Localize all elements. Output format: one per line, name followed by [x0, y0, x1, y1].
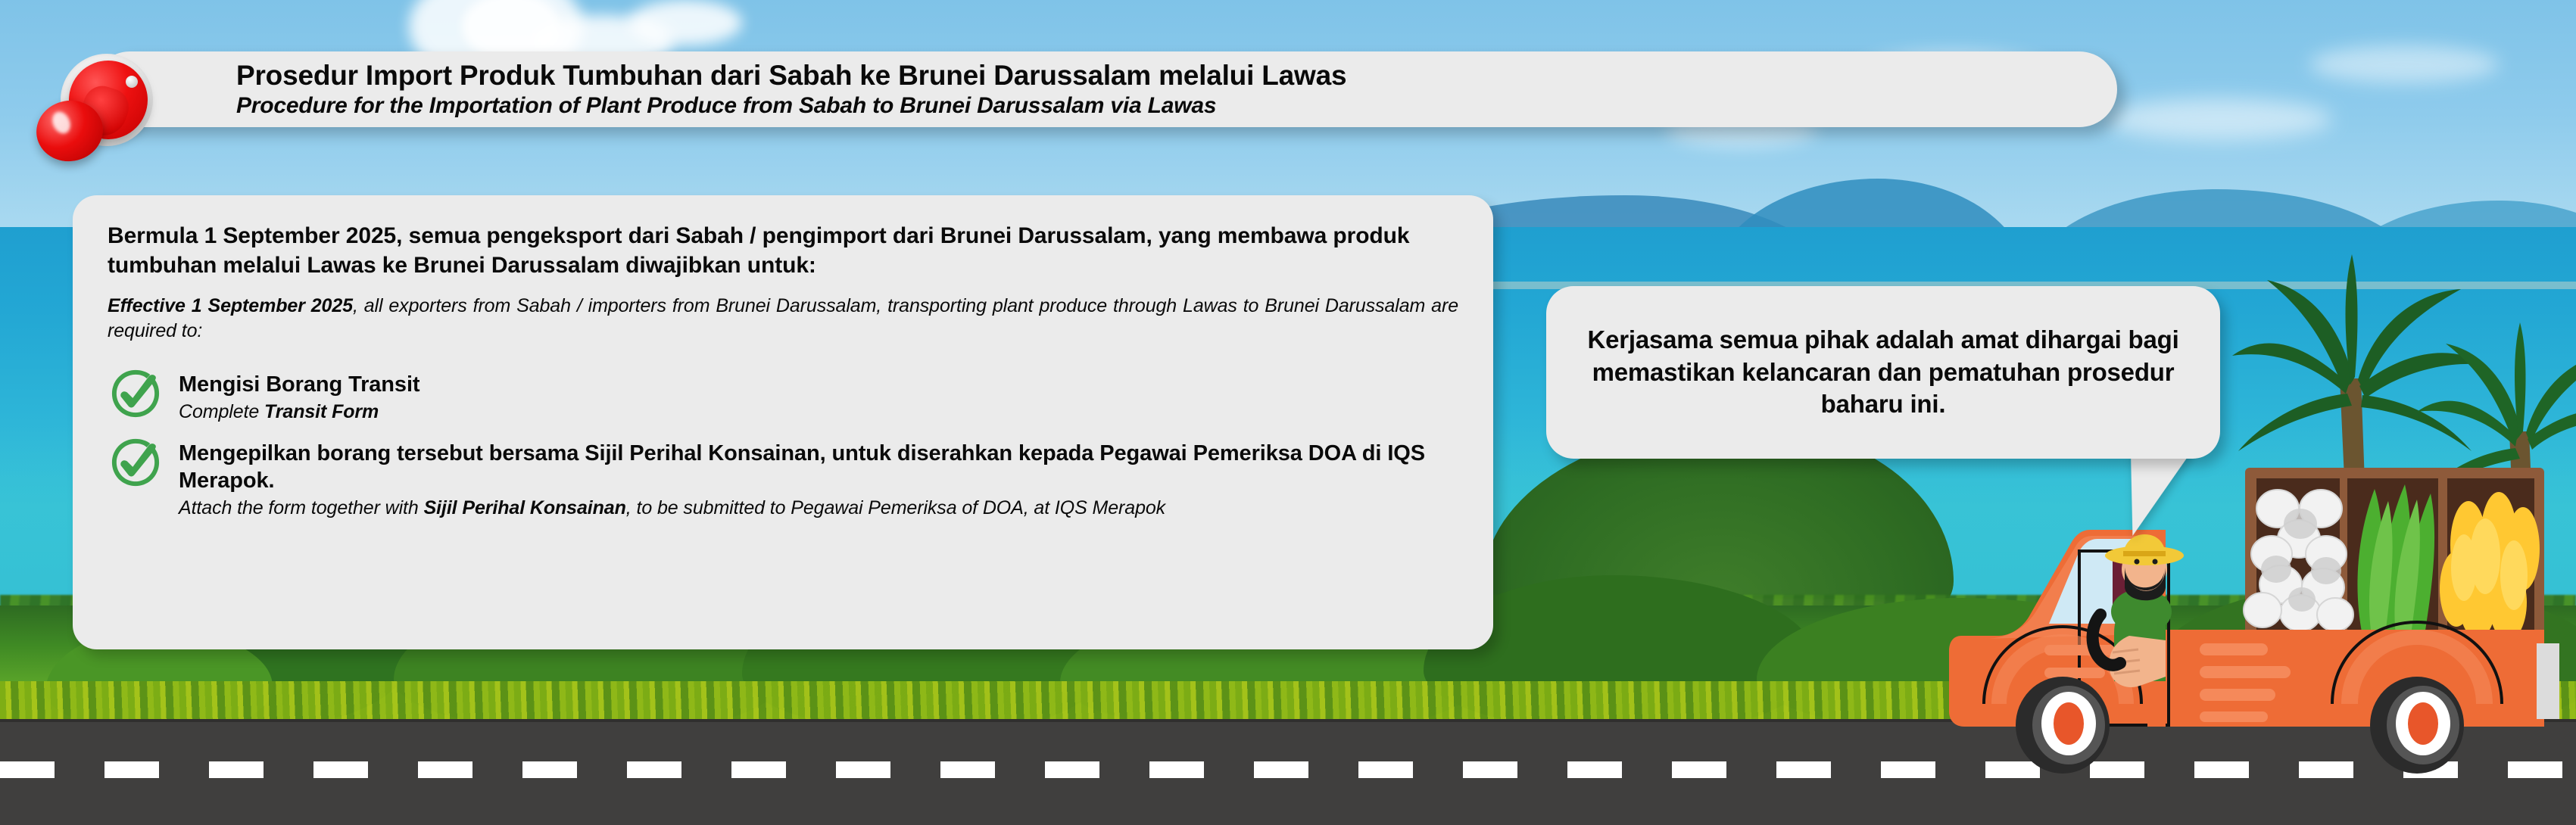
checklist-english-emphasis: Sijil Perihal Konsainan	[424, 497, 626, 518]
checklist-item: Mengepilkan borang tersebut bersama Siji…	[108, 437, 1458, 520]
checklist-item-malay: Mengisi Borang Transit	[179, 372, 1458, 399]
lead-malay-effective-date: Bermula 1 September 2025,	[108, 223, 402, 248]
checklist-item-body: Mengisi Borang Transit Complete Transit …	[179, 369, 1458, 424]
page-title-english: Procedure for the Importation of Plant P…	[236, 93, 2064, 120]
checklist-item-malay: Mengepilkan borang tersebut bersama Siji…	[179, 441, 1458, 495]
checklist-english-suffix: , to be submitted to Pegawai Pemeriksa o…	[626, 497, 1165, 518]
orange-pickup-truck-icon	[1938, 454, 2574, 787]
checklist-english-emphasis: Transit Form	[264, 401, 379, 422]
infographic-canvas: Kerjasama semua pihak adalah amat diharg…	[0, 0, 2576, 825]
lead-english-effective-date: Effective 1 September 2025	[108, 295, 353, 316]
page-title-malay: Prosedur Import Produk Tumbuhan dari Sab…	[236, 60, 2064, 91]
red-pushpin-icon	[26, 42, 154, 167]
cloud-icon	[2309, 45, 2499, 83]
requirements-checklist: Mengisi Borang Transit Complete Transit …	[108, 369, 1458, 521]
truck-wheel	[2370, 677, 2464, 774]
checklist-english-prefix: Attach the form together with	[179, 497, 424, 518]
checklist-item-english: Attach the form together with Sijil Peri…	[179, 497, 1458, 521]
speech-bubble-text: Kerjasama semua pihak adalah amat diharg…	[1572, 324, 2194, 422]
cloud-icon	[2105, 98, 2332, 140]
checklist-item-body: Mengepilkan borang tersebut bersama Siji…	[179, 437, 1458, 520]
main-content-card: Bermula 1 September 2025, semua pengeksp…	[73, 195, 1493, 649]
title-card: Prosedur Import Produk Tumbuhan dari Sab…	[95, 51, 2117, 127]
checklist-item: Mengisi Borang Transit Complete Transit …	[108, 369, 1458, 424]
cargo-crate-icon	[2244, 468, 2544, 642]
lead-paragraph-malay: Bermula 1 September 2025, semua pengeksp…	[108, 221, 1458, 280]
green-check-circle-icon	[108, 434, 164, 490]
pushpin-highlight-bead	[126, 76, 138, 88]
truck-wheel	[2016, 677, 2110, 774]
cloud-icon	[628, 0, 742, 45]
checklist-english-prefix: Complete	[179, 401, 264, 422]
speech-bubble: Kerjasama semua pihak adalah amat diharg…	[1546, 286, 2220, 459]
lead-paragraph-english: Effective 1 September 2025, all exporter…	[108, 294, 1458, 343]
checklist-item-english: Complete Transit Form	[179, 400, 1458, 425]
green-check-circle-icon	[108, 366, 164, 422]
